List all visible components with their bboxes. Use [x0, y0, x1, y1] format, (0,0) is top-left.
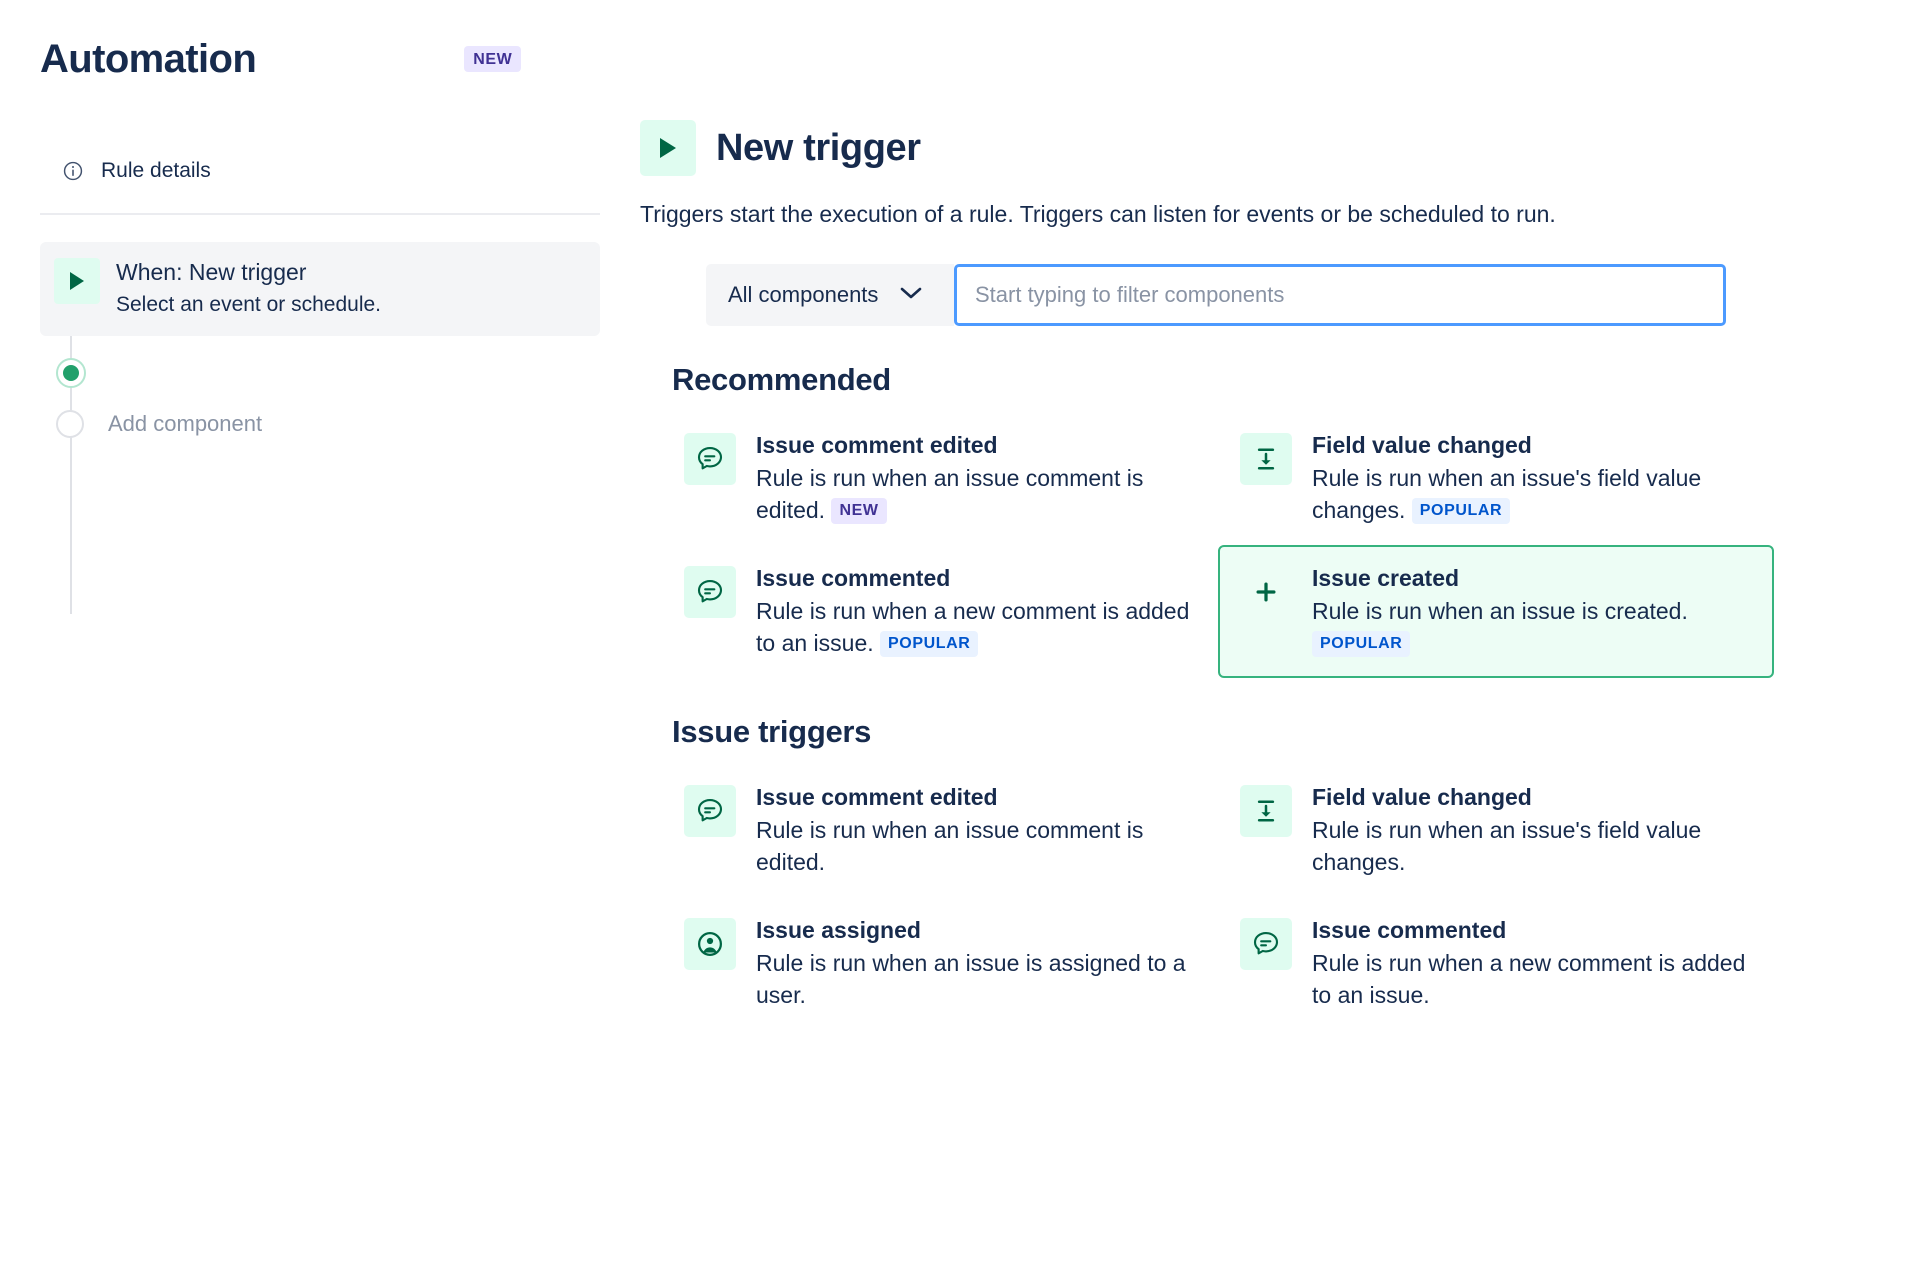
rule-details-label: Rule details [101, 159, 211, 183]
section-recommended: Recommended [672, 362, 1878, 398]
trigger-card-title: Issue commented [1312, 916, 1754, 945]
trigger-card-description: Rule is run when a new comment is added … [1312, 947, 1754, 1011]
trigger-card-description: Rule is run when an issue's field value … [1312, 814, 1754, 878]
page-title: Automation [40, 37, 256, 81]
comment-icon [684, 433, 736, 485]
timeline-step-when-trigger[interactable]: When: New trigger Select an event or sch… [40, 242, 600, 336]
trigger-card-badge: POPULAR [1412, 498, 1510, 524]
issue-triggers-card-grid: Issue comment edited Rule is run when an… [662, 764, 1878, 1030]
status-badge-new: NEW [464, 46, 521, 72]
component-filter-row: All components [706, 264, 1726, 326]
trigger-card-issue-commented[interactable]: Issue commented Rule is run when a new c… [662, 545, 1218, 678]
trigger-card-title: Issue comment edited [756, 783, 1198, 812]
trigger-card-issue-commented-2[interactable]: Issue commented Rule is run when a new c… [1218, 897, 1774, 1030]
field-value-changed-icon [1240, 785, 1292, 837]
chevron-down-icon [900, 286, 922, 305]
section-title-recommended: Recommended [672, 362, 1878, 398]
empty-circle-icon [56, 410, 84, 438]
trigger-card-badge: POPULAR [880, 631, 978, 657]
component-filter-input[interactable] [954, 264, 1726, 326]
trigger-card-title: Issue comment edited [756, 431, 1198, 460]
green-dot-inner [63, 365, 79, 381]
trigger-card-title: Field value changed [1312, 431, 1754, 460]
trigger-card-description: Rule is run when a new comment is added … [756, 595, 1198, 659]
trigger-card-description-text: Rule is run when an issue is created. [1312, 598, 1688, 624]
trigger-card-title: Issue created [1312, 564, 1754, 593]
green-dot-node-icon[interactable] [56, 358, 86, 388]
rule-timeline: When: New trigger Select an event or sch… [40, 242, 600, 438]
trigger-card-issue-comment-edited[interactable]: Issue comment edited Rule is run when an… [662, 412, 1218, 545]
trigger-card-issue-assigned[interactable]: Issue assigned Rule is run when an issue… [662, 897, 1218, 1030]
sidebar-item-rule-details[interactable]: Rule details [40, 152, 600, 190]
timeline-node-row [40, 336, 600, 410]
add-component-label: Add component [108, 411, 262, 437]
field-value-changed-icon [1240, 433, 1292, 485]
trigger-panel-header: New trigger [640, 120, 1878, 176]
trigger-card-title: Issue assigned [756, 916, 1198, 945]
trigger-card-title: Issue commented [756, 564, 1198, 593]
trigger-card-description: Rule is run when an issue comment is edi… [756, 814, 1198, 878]
rule-builder-sidebar: Automation NEW Rule details [0, 0, 640, 1276]
trigger-picker-panel: New trigger Triggers start the execution… [640, 0, 1918, 1276]
trigger-card-description-text: Rule is run when an issue comment is edi… [756, 465, 1143, 523]
play-triangle-icon [54, 258, 100, 304]
plus-icon [1240, 566, 1292, 618]
trigger-card-issue-comment-edited-2[interactable]: Issue comment edited Rule is run when an… [662, 764, 1218, 897]
trigger-card-description: Rule is run when an issue is assigned to… [756, 947, 1198, 1011]
timeline-step-title: When: New trigger [116, 258, 381, 288]
timeline-step-subtitle: Select an event or schedule. [116, 291, 381, 318]
timeline-add-component[interactable]: Add component [40, 410, 600, 438]
info-circle-icon [62, 160, 84, 182]
automation-page: Automation NEW Rule details [0, 0, 1918, 1276]
recommended-card-grid: Issue comment edited Rule is run when an… [662, 412, 1878, 678]
sidebar-header: Automation NEW [40, 28, 600, 90]
trigger-panel-title: New trigger [716, 127, 921, 170]
section-title-issue-triggers: Issue triggers [672, 714, 1878, 750]
trigger-card-field-value-changed[interactable]: Field value changed Rule is run when an … [1218, 412, 1774, 545]
comment-icon [684, 566, 736, 618]
component-type-select[interactable]: All components [706, 264, 954, 326]
trigger-card-issue-created[interactable]: Issue created Rule is run when an issue … [1218, 545, 1774, 678]
comment-icon [684, 785, 736, 837]
comment-icon [1240, 918, 1292, 970]
section-issue-triggers: Issue triggers [672, 714, 1878, 750]
trigger-card-description: Rule is run when an issue's field value … [1312, 462, 1754, 526]
sidebar-divider [40, 213, 600, 215]
trigger-card-badge: NEW [831, 498, 886, 524]
trigger-card-badge: POPULAR [1312, 631, 1410, 657]
trigger-card-title: Field value changed [1312, 783, 1754, 812]
trigger-card-description: Rule is run when an issue is created. PO… [1312, 595, 1754, 659]
trigger-panel-description: Triggers start the execution of a rule. … [640, 199, 1840, 230]
trigger-card-description: Rule is run when an issue comment is edi… [756, 462, 1198, 526]
play-triangle-icon [640, 120, 696, 176]
component-type-select-value: All components [728, 282, 878, 308]
trigger-card-field-value-changed-2[interactable]: Field value changed Rule is run when an … [1218, 764, 1774, 897]
user-avatar-icon [684, 918, 736, 970]
